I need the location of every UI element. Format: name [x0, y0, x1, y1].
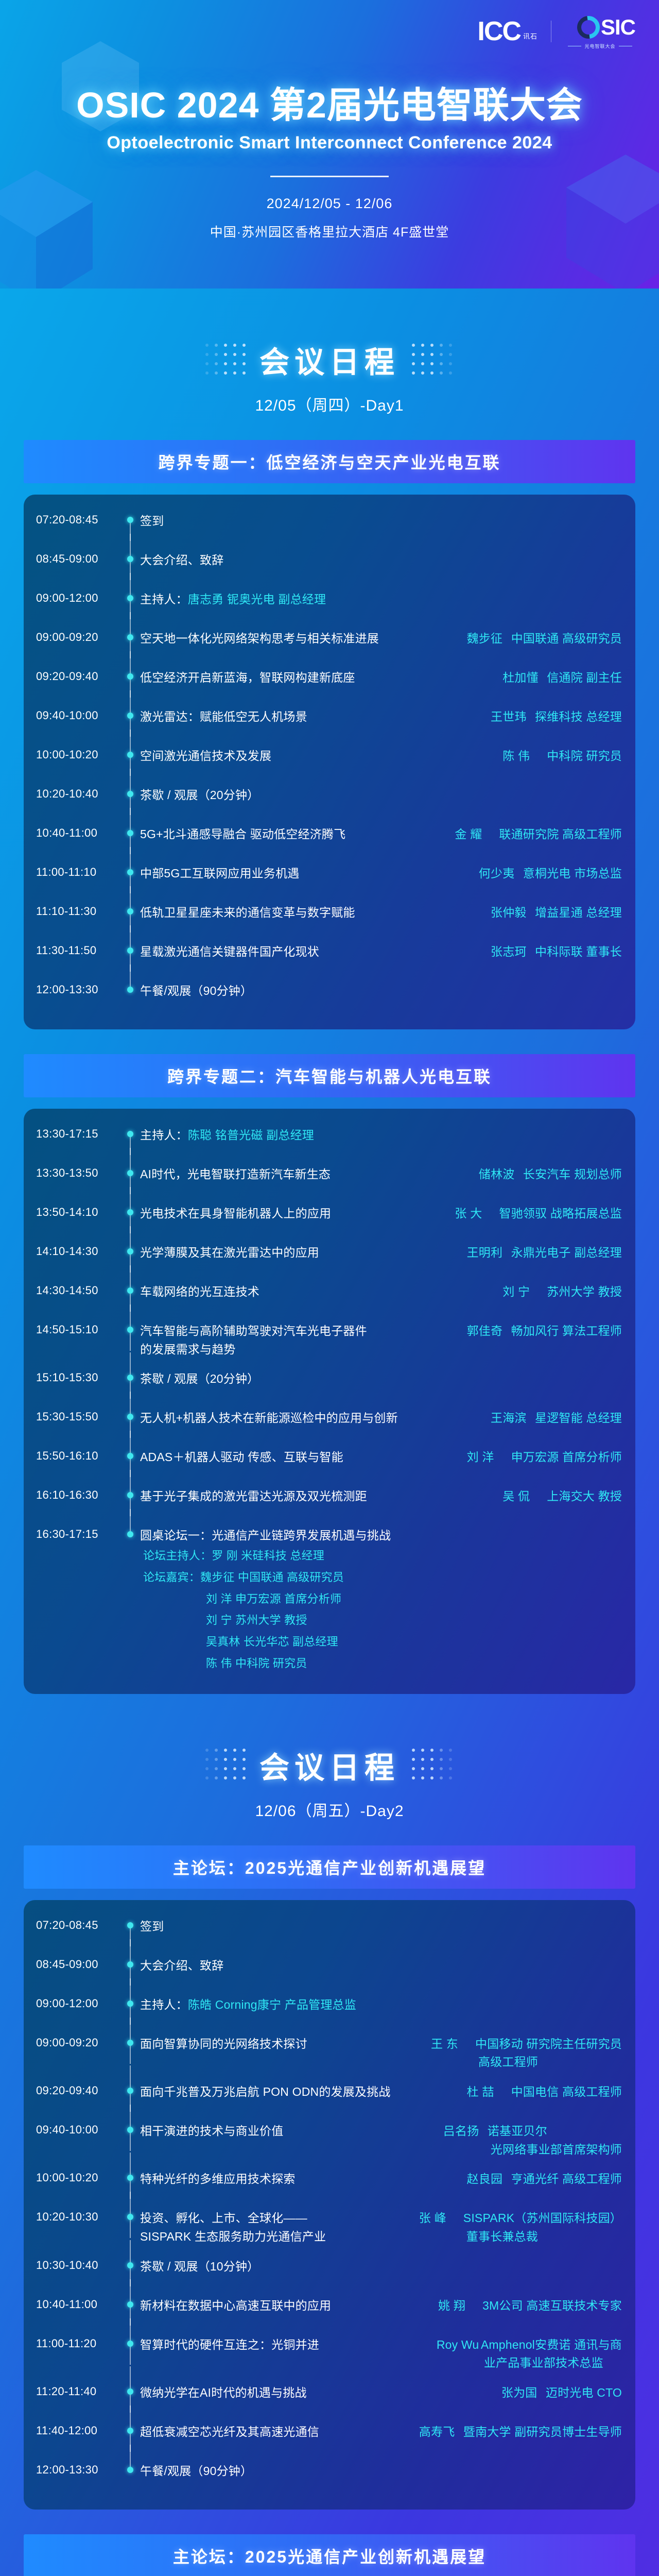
- agenda-time: 09:00-12:00: [36, 590, 123, 605]
- speaker-org: Amphenol安费诺 通讯与商: [481, 2338, 622, 2351]
- speaker-name: 杜加懂: [502, 669, 547, 687]
- agenda-row: 08:45-09:00大会介绍、致辞: [24, 1957, 635, 1985]
- speaker-name: 陈 伟: [502, 747, 547, 766]
- agenda-topic: 光电技术在具身智能机器人上的应用: [140, 1205, 455, 1223]
- conference-poster: ICC 讯石 SIC 光电智联大会 OSIC 2024 第2届光电智联大会 Op…: [0, 0, 659, 2576]
- agenda-break-label: 大会介绍、致辞: [140, 551, 622, 570]
- speaker-name: 杜 喆: [467, 2083, 511, 2102]
- session-host: 主持人：陈聪 铭普光磁 副总经理: [140, 1126, 622, 1145]
- hero-banner: ICC 讯石 SIC 光电智联大会 OSIC 2024 第2届光电智联大会 Op…: [0, 0, 659, 289]
- agenda-row: 11:30-11:50星载激光通信关键器件国产化现状张志珂中科际联 董事长: [24, 943, 635, 971]
- agenda-topic: 超低衰减空芯光纤及其高速光通信: [140, 2423, 419, 2442]
- agenda-row: 07:20-08:45签到: [24, 512, 635, 540]
- agenda-time: 08:45-09:00: [36, 551, 123, 566]
- agenda-row-body: 5G+北斗通感导融合 驱动低空经济腾飞金 耀联通研究院 高级工程师: [140, 825, 635, 844]
- agenda-row: 09:20-09:40面向千兆普及万兆启航 PON ODN的发展及挑战杜 喆中国…: [24, 2083, 635, 2111]
- dot-grid-left: [205, 1749, 247, 1781]
- agenda-speaker: 刘 洋申万宏源 首席分析师: [467, 1448, 622, 1467]
- agenda-speaker: 郭佳奇畅加风行 算法工程师: [467, 1322, 622, 1341]
- agenda-time: 10:00-10:20: [36, 747, 123, 761]
- timeline-dot-icon: [127, 2428, 133, 2434]
- speaker-name: 王 东: [431, 2035, 475, 2054]
- agenda-topic: 低空经济开启新蓝海，智联网构建新底座: [140, 669, 502, 687]
- panel-guest: 刘 洋 申万宏源 首席分析师: [140, 1588, 614, 1610]
- agenda-time: 11:10-11:30: [36, 904, 123, 918]
- panel-guest: 刘 宁 苏州大学 教授: [140, 1609, 614, 1631]
- timeline-dot-icon: [127, 1453, 133, 1459]
- agenda-row: 10:20-10:30投资、孵化、上市、全球化——SISPARK 生态服务助力光…: [24, 2209, 635, 2246]
- agenda-topic: 低轨卫星星座未来的通信变革与数字赋能: [140, 904, 491, 922]
- event-venue: 中国·苏州园区香格里拉大酒店 4F盛世堂: [0, 222, 659, 241]
- speaker-name: 刘 洋: [467, 1448, 511, 1467]
- speaker-org: 中国移动 研究院主任研究员: [475, 2037, 622, 2050]
- panel-guest: 陈 伟 中科院 研究员: [140, 1653, 614, 1674]
- timeline-dot-icon: [127, 1287, 133, 1294]
- agenda-time: 09:00-09:20: [36, 630, 123, 644]
- agenda-topic: 基于光子集成的激光雷达光源及双光梳测距: [140, 1487, 502, 1506]
- speaker-org: 星逻智能 总经理: [535, 1411, 622, 1425]
- agenda-row-body: 激光雷达：赋能低空无人机场景王世玮探维科技 总经理: [140, 708, 635, 726]
- session-title-bar: 主论坛：2025光通信产业创新机遇展望: [24, 2534, 635, 2576]
- agenda-time: 16:10-16:30: [36, 1487, 123, 1502]
- day-title-badge: 会议日程: [0, 1743, 659, 1787]
- agenda-row: 15:30-15:50无人机+机器人技术在新能源巡检中的应用与创新王海滨星逻智能…: [24, 1409, 635, 1437]
- speaker-org: 申万宏源 首席分析师: [511, 1450, 622, 1464]
- timeline-dot-icon: [127, 908, 133, 914]
- agenda-row: 09:00-12:00主持人：唐志勇 铌奥光电 副总经理: [24, 590, 635, 618]
- agenda-time: 13:30-13:50: [36, 1165, 123, 1180]
- agenda-row-body: 签到: [140, 1918, 635, 1936]
- speaker-org: 增益星通 总经理: [535, 906, 622, 919]
- timeline-dot-icon: [127, 2341, 133, 2347]
- agenda-time: 09:40-10:00: [36, 2122, 123, 2137]
- agenda-topic: 星载激光通信关键器件国产化现状: [140, 943, 491, 961]
- speaker-org: 中科院 研究员: [547, 749, 622, 762]
- timeline-dot-icon: [127, 2388, 133, 2395]
- agenda-time: 10:20-10:40: [36, 786, 123, 801]
- agenda-topic: AI时代，光电智联打造新汽车新生态: [140, 1165, 479, 1184]
- agenda-row: 09:00-12:00主持人：陈皓 Corning康宁 产品管理总监: [24, 1996, 635, 2024]
- agenda-time: 11:00-11:10: [36, 865, 123, 879]
- title-divider: [270, 176, 389, 177]
- agenda-container: 会议日程12/05（周四）-Day1跨界专题一：低空经济与空天产业光电互联07:…: [0, 289, 659, 2576]
- session-card: 07:20-08:45签到08:45-09:00大会介绍、致辞09:00-12:…: [24, 495, 635, 1029]
- agenda-speaker: 张 大智驰领驭 战略拓展总监: [455, 1205, 622, 1223]
- agenda-time: 09:40-10:00: [36, 708, 123, 722]
- speaker-name: 高寿飞: [419, 2423, 463, 2442]
- timeline-dot-icon: [127, 1248, 133, 1255]
- agenda-time: 11:00-11:20: [36, 2336, 123, 2350]
- speaker-name: 张 峰: [419, 2209, 463, 2228]
- agenda-time: 08:45-09:00: [36, 1957, 123, 1971]
- agenda-row-body: ADAS＋机器人驱动 传感、互联与智能刘 洋申万宏源 首席分析师: [140, 1448, 635, 1467]
- timeline-dot-icon: [127, 947, 133, 954]
- agenda-row-body: 面向智算协同的光网络技术探讨王 东中国移动 研究院主任研究员高级工程师: [140, 2035, 635, 2072]
- agenda-time: 11:40-12:00: [36, 2423, 123, 2437]
- agenda-speaker: 赵良园亨通光纤 高级工程师: [467, 2170, 622, 2189]
- agenda-row: 10:30-10:40茶歇 / 观展（10分钟）: [24, 2258, 635, 2285]
- timeline-dot-icon: [127, 517, 133, 523]
- agenda-row-body: 汽车智能与高阶辅助驾驶对汽车光电子器件的发展需求与趋势郭佳奇畅加风行 算法工程师: [140, 1322, 635, 1359]
- agenda-row-body: 大会介绍、致辞: [140, 551, 635, 570]
- speaker-name: 王明利: [467, 1244, 511, 1262]
- agenda-speaker: 张 峰SISPARK（苏州国际科技园）董事长兼总裁: [419, 2209, 622, 2246]
- speaker-org: 3M公司 高速互联技术专家: [482, 2299, 622, 2312]
- speaker-org: 中国联通 高级研究员: [511, 632, 622, 645]
- agenda-row: 11:40-12:00超低衰减空芯光纤及其高速光通信高寿飞暨南大学 副研究员博士…: [24, 2423, 635, 2451]
- agenda-time: 15:30-15:50: [36, 1409, 123, 1423]
- agenda-row-body: 光学薄膜及其在激光雷达中的应用王明利永鼎光电子 副总经理: [140, 1244, 635, 1262]
- speaker-org: 诺基亚贝尔: [488, 2124, 547, 2138]
- agenda-topic: 车载网络的光互连技术: [140, 1283, 502, 1301]
- agenda-row-body: 基于光子集成的激光雷达光源及双光梳测距吴 侃上海交大 教授: [140, 1487, 635, 1506]
- agenda-speaker: 王明利永鼎光电子 副总经理: [467, 1244, 622, 1262]
- timeline-dot-icon: [127, 2040, 133, 2046]
- agenda-row-body: 无人机+机器人技术在新能源巡检中的应用与创新王海滨星逻智能 总经理: [140, 1409, 635, 1428]
- agenda-row: 10:00-10:20空间激光通信技术及发展陈 伟中科院 研究员: [24, 747, 635, 775]
- timeline-dot-icon: [127, 1131, 133, 1137]
- agenda-speaker: 杜 喆中国电信 高级工程师: [467, 2083, 622, 2102]
- agenda-break-label: 茶歇 / 观展（20分钟）: [140, 1370, 622, 1388]
- timeline-dot-icon: [127, 1327, 133, 1333]
- speaker-org: 迈时光电 CTO: [546, 2386, 622, 2399]
- agenda-topic: 中部5G工互联网应用业务机遇: [140, 865, 479, 883]
- agenda-topic: 面向智算协同的光网络技术探讨: [140, 2035, 431, 2054]
- session-host: 主持人：陈皓 Corning康宁 产品管理总监: [140, 1996, 622, 2014]
- speaker-org: 暨南大学 副研究员博士生导师: [463, 2425, 622, 2438]
- agenda-time: 10:20-10:30: [36, 2209, 123, 2224]
- speaker-name: 张 大: [455, 1205, 499, 1223]
- day-title: 会议日程: [256, 338, 403, 381]
- speaker-org: 永鼎光电子 副总经理: [511, 1246, 622, 1259]
- speaker-org: 探维科技 总经理: [535, 710, 622, 723]
- agenda-time: 12:00-13:30: [36, 2462, 123, 2477]
- agenda-topic: 5G+北斗通感导融合 驱动低空经济腾飞: [140, 825, 455, 844]
- agenda-row: 12:00-13:30午餐/观展（90分钟）: [24, 2462, 635, 2490]
- agenda-row-body: 午餐/观展（90分钟）: [140, 2462, 635, 2481]
- agenda-time: 16:30-17:15: [36, 1527, 123, 1541]
- agenda-row-body: 茶歇 / 观展（20分钟）: [140, 1370, 635, 1388]
- agenda-topic: 新材料在数据中心高速互联中的应用: [140, 2297, 438, 2315]
- agenda-topic: 无人机+机器人技术在新能源巡检中的应用与创新: [140, 1409, 491, 1428]
- event-date: 2024/12/05 - 12/06: [0, 196, 659, 212]
- agenda-row-body: 中部5G工互联网应用业务机遇何少夷意桐光电 市场总监: [140, 865, 635, 883]
- agenda-speaker: 张为国迈时光电 CTO: [501, 2384, 622, 2402]
- agenda-topic: 空间激光通信技术及发展: [140, 747, 502, 766]
- agenda-row-body: 空间激光通信技术及发展陈 伟中科院 研究员: [140, 747, 635, 766]
- agenda-break-label: 午餐/观展（90分钟）: [140, 982, 622, 1001]
- agenda-row: 10:00-10:20特种光纤的多维应用技术探索赵良园亨通光纤 高级工程师: [24, 2170, 635, 2198]
- agenda-row: 13:50-14:10光电技术在具身智能机器人上的应用张 大智驰领驭 战略拓展总…: [24, 1205, 635, 1232]
- session-title-bar: 主论坛：2025光通信产业创新机遇展望: [24, 1845, 635, 1889]
- agenda-time: 14:30-14:50: [36, 1283, 123, 1297]
- agenda-row: 15:10-15:30茶歇 / 观展（20分钟）: [24, 1370, 635, 1398]
- speaker-name: 吴 侃: [502, 1487, 547, 1506]
- timeline-dot-icon: [127, 2088, 133, 2094]
- session-card: 07:20-08:45签到08:45-09:00大会介绍、致辞09:00-12:…: [24, 1900, 635, 2510]
- agenda-topic: 特种光纤的多维应用技术探索: [140, 2170, 467, 2189]
- agenda-speaker: 吕名扬诺基亚贝尔光网络事业部首席架构师: [443, 2122, 622, 2159]
- agenda-row-body: 圆桌论坛一：光通信产业链跨界发展机遇与挑战论坛主持人：罗 刚 米硅科技 总经理论…: [140, 1527, 635, 1674]
- agenda-speaker: 储林波长安汽车 规划总师: [479, 1165, 622, 1184]
- speaker-name: 姚 翔: [438, 2297, 482, 2315]
- timeline-dot-icon: [127, 2467, 133, 2473]
- speaker-org: 中国电信 高级工程师: [511, 2085, 622, 2098]
- agenda-time: 10:40-11:00: [36, 2297, 123, 2311]
- day-subtitle: 12/06（周五）-Day2: [0, 1798, 659, 1821]
- agenda-time: 09:00-12:00: [36, 1996, 123, 2010]
- agenda-row: 14:30-14:50车载网络的光互连技术刘 宁苏州大学 教授: [24, 1283, 635, 1311]
- timeline-dot-icon: [127, 673, 133, 680]
- timeline-dot-icon: [127, 1170, 133, 1176]
- agenda-speaker: 金 耀联通研究院 高级工程师: [455, 825, 622, 844]
- page-title: OSIC 2024 第2届光电智联大会: [0, 87, 659, 125]
- agenda-break-label: 签到: [140, 512, 622, 531]
- agenda-row: 14:10-14:30光学薄膜及其在激光雷达中的应用王明利永鼎光电子 副总经理: [24, 1244, 635, 1272]
- agenda-time: 07:20-08:45: [36, 1918, 123, 1932]
- agenda-row: 11:20-11:40微纳光学在AI时代的机遇与挑战张为国迈时光电 CTO: [24, 2384, 635, 2412]
- agenda-time: 07:20-08:45: [36, 512, 123, 527]
- agenda-speaker: 高寿飞暨南大学 副研究员博士生导师: [419, 2423, 622, 2442]
- speaker-org: 亨通光纤 高级工程师: [511, 2172, 622, 2185]
- agenda-break-label: 茶歇 / 观展（10分钟）: [140, 2258, 622, 2276]
- agenda-row-body: 面向千兆普及万兆启航 PON ODN的发展及挑战杜 喆中国电信 高级工程师: [140, 2083, 635, 2102]
- timeline-dot-icon: [127, 869, 133, 875]
- agenda-time: 09:20-09:40: [36, 2083, 123, 2097]
- agenda-row-body: 低空经济开启新蓝海，智联网构建新底座杜加懂信通院 副主任: [140, 669, 635, 687]
- agenda-topic: 光学薄膜及其在激光雷达中的应用: [140, 1244, 467, 1262]
- agenda-time: 15:50-16:10: [36, 1448, 123, 1463]
- speaker-name: 何少夷: [479, 865, 523, 883]
- agenda-time: 11:30-11:50: [36, 943, 123, 957]
- timeline-dot-icon: [127, 987, 133, 993]
- agenda-speaker: 杜加懂信通院 副主任: [502, 669, 622, 687]
- agenda-time: 13:30-17:15: [36, 1126, 123, 1141]
- speaker-org: SISPARK（苏州国际科技园）: [463, 2211, 622, 2225]
- timeline-dot-icon: [127, 2175, 133, 2181]
- agenda-row-body: 茶歇 / 观展（20分钟）: [140, 786, 635, 805]
- speaker-org: 中科际联 董事长: [535, 945, 622, 958]
- timeline-dot-icon: [127, 1961, 133, 1968]
- timeline-dot-icon: [127, 634, 133, 640]
- agenda-row: 09:00-09:20面向智算协同的光网络技术探讨王 东中国移动 研究院主任研究…: [24, 2035, 635, 2072]
- agenda-break-label: 午餐/观展（90分钟）: [140, 2462, 622, 2481]
- agenda-speaker: 陈 伟中科院 研究员: [502, 747, 622, 766]
- agenda-row-body: 光电技术在具身智能机器人上的应用张 大智驰领驭 战略拓展总监: [140, 1205, 635, 1223]
- speaker-name: 张为国: [501, 2384, 546, 2402]
- session-title-bar: 跨界专题一：低空经济与空天产业光电互联: [24, 440, 635, 483]
- agenda-time: 13:50-14:10: [36, 1205, 123, 1219]
- speaker-org: 苏州大学 教授: [547, 1285, 622, 1298]
- dot-grid-left: [205, 344, 247, 376]
- agenda-row-body: 主持人：陈皓 Corning康宁 产品管理总监: [140, 1996, 635, 2014]
- speaker-name: 金 耀: [455, 825, 499, 844]
- speaker-name: 王世玮: [491, 708, 535, 726]
- panel-people: 论坛主持人：罗 刚 米硅科技 总经理论坛嘉宾：魏步征 中国联通 高级研究员刘 洋…: [140, 1545, 614, 1674]
- agenda-topic: 激光雷达：赋能低空无人机场景: [140, 708, 491, 726]
- timeline-dot-icon: [127, 2262, 133, 2268]
- agenda-row-body: 大会介绍、致辞: [140, 1957, 635, 1975]
- timeline-dot-icon: [127, 1531, 133, 1537]
- agenda-row-body: 主持人：陈聪 铭普光磁 副总经理: [140, 1126, 635, 1145]
- timeline-dot-icon: [127, 1209, 133, 1215]
- agenda-speaker: 王 东中国移动 研究院主任研究员高级工程师: [431, 2035, 622, 2072]
- agenda-row-body: 新材料在数据中心高速互联中的应用姚 翔3M公司 高速互联技术专家: [140, 2297, 635, 2315]
- speaker-org: 上海交大 教授: [547, 1489, 622, 1503]
- agenda-row-body: 智算时代的硬件互连之：光铜并进Roy WuAmphenol安费诺 通讯与商业产品…: [140, 2336, 635, 2372]
- agenda-speaker: 张仲毅增益星通 总经理: [491, 904, 622, 922]
- timeline-dot-icon: [127, 713, 133, 719]
- speaker-name: 王海滨: [491, 1409, 535, 1428]
- agenda-row-body: 茶歇 / 观展（10分钟）: [140, 2258, 635, 2276]
- speaker-name: 储林波: [479, 1165, 523, 1184]
- agenda-time: 11:20-11:40: [36, 2384, 123, 2398]
- agenda-row: 09:40-10:00相干演进的技术与商业价值吕名扬诺基亚贝尔光网络事业部首席架…: [24, 2122, 635, 2159]
- timeline-dot-icon: [127, 1375, 133, 1381]
- agenda-speaker: Roy WuAmphenol安费诺 通讯与商业产品事业部技术总监: [437, 2336, 622, 2372]
- agenda-row: 10:40-11:005G+北斗通感导融合 驱动低空经济腾飞金 耀联通研究院 高…: [24, 825, 635, 853]
- agenda-row-body: 超低衰减空芯光纤及其高速光通信高寿飞暨南大学 副研究员博士生导师: [140, 2423, 635, 2442]
- speaker-org: 畅加风行 算法工程师: [511, 1324, 622, 1337]
- agenda-row: 09:40-10:00激光雷达：赋能低空无人机场景王世玮探维科技 总经理: [24, 708, 635, 736]
- agenda-row-body: 特种光纤的多维应用技术探索赵良园亨通光纤 高级工程师: [140, 2170, 635, 2189]
- session-title-bar: 跨界专题二：汽车智能与机器人光电互联: [24, 1054, 635, 1097]
- speaker-name: 张仲毅: [491, 904, 535, 922]
- timeline-dot-icon: [127, 2127, 133, 2133]
- agenda-row: 11:00-11:10中部5G工互联网应用业务机遇何少夷意桐光电 市场总监: [24, 865, 635, 892]
- agenda-row-body: 星载激光通信关键器件国产化现状张志珂中科际联 董事长: [140, 943, 635, 961]
- agenda-break-label: 茶歇 / 观展（20分钟）: [140, 786, 622, 805]
- timeline-dot-icon: [127, 1492, 133, 1498]
- timeline-dot-icon: [127, 1922, 133, 1928]
- agenda-topic: 智算时代的硬件互连之：光铜并进: [140, 2336, 437, 2354]
- agenda-row-body: AI时代，光电智联打造新汽车新生态储林波长安汽车 规划总师: [140, 1165, 635, 1184]
- agenda-time: 15:10-15:30: [36, 1370, 123, 1384]
- agenda-row-body: 签到: [140, 512, 635, 531]
- agenda-topic: 面向千兆普及万兆启航 PON ODN的发展及挑战: [140, 2083, 467, 2102]
- agenda-topic: 投资、孵化、上市、全球化——SISPARK 生态服务助力光通信产业: [140, 2209, 419, 2246]
- agenda-row: 09:00-09:20空天地一体化光网络架构思考与相关标准进展魏步征中国联通 高…: [24, 630, 635, 657]
- agenda-row: 15:50-16:10ADAS＋机器人驱动 传感、互联与智能刘 洋申万宏源 首席…: [24, 1448, 635, 1476]
- agenda-speaker: 王世玮探维科技 总经理: [491, 708, 622, 726]
- agenda-speaker: 姚 翔3M公司 高速互联技术专家: [438, 2297, 622, 2315]
- agenda-row: 14:50-15:10汽车智能与高阶辅助驾驶对汽车光电子器件的发展需求与趋势郭佳…: [24, 1322, 635, 1359]
- agenda-row-body: 相干演进的技术与商业价值吕名扬诺基亚贝尔光网络事业部首席架构师: [140, 2122, 635, 2159]
- panel-guest: 吴真林 长光华芯 副总经理: [140, 1631, 614, 1653]
- agenda-row-body: 低轨卫星星座未来的通信变革与数字赋能张仲毅增益星通 总经理: [140, 904, 635, 922]
- agenda-speaker: 王海滨星逻智能 总经理: [491, 1409, 622, 1428]
- agenda-row: 07:20-08:45签到: [24, 1918, 635, 1945]
- agenda-row: 11:00-11:20智算时代的硬件互连之：光铜并进Roy WuAmphenol…: [24, 2336, 635, 2372]
- speaker-name: 魏步征: [467, 630, 511, 648]
- agenda-speaker: 刘 宁苏州大学 教授: [502, 1283, 622, 1301]
- speaker-org: 意桐光电 市场总监: [523, 867, 622, 880]
- agenda-row: 16:10-16:30基于光子集成的激光雷达光源及双光梳测距吴 侃上海交大 教授: [24, 1487, 635, 1515]
- timeline-dot-icon: [127, 791, 133, 797]
- agenda-topic: 空天地一体化光网络架构思考与相关标准进展: [140, 630, 467, 648]
- agenda-row-body: 微纳光学在AI时代的机遇与挑战张为国迈时光电 CTO: [140, 2384, 635, 2402]
- dot-grid-right: [412, 1749, 454, 1781]
- speaker-name: 赵良园: [467, 2170, 511, 2189]
- agenda-speaker: 张志珂中科际联 董事长: [491, 943, 622, 961]
- agenda-row: 10:20-10:40茶歇 / 观展（20分钟）: [24, 786, 635, 814]
- agenda-row-body: 投资、孵化、上市、全球化——SISPARK 生态服务助力光通信产业张 峰SISP…: [140, 2209, 635, 2246]
- agenda-topic: 汽车智能与高阶辅助驾驶对汽车光电子器件的发展需求与趋势: [140, 1322, 467, 1359]
- speaker-name: 吕名扬: [443, 2122, 488, 2141]
- day-title-badge: 会议日程: [0, 338, 659, 381]
- speaker-org: 联通研究院 高级工程师: [499, 827, 622, 841]
- timeline-dot-icon: [127, 2001, 133, 2007]
- speaker-name: 刘 宁: [502, 1283, 547, 1301]
- timeline-dot-icon: [127, 1414, 133, 1420]
- agenda-row-body: 空天地一体化光网络架构思考与相关标准进展魏步征中国联通 高级研究员: [140, 630, 635, 648]
- timeline-dot-icon: [127, 2301, 133, 2308]
- speaker-name: 郭佳奇: [467, 1322, 511, 1341]
- timeline-dot-icon: [127, 556, 133, 562]
- agenda-row-body: 午餐/观展（90分钟）: [140, 982, 635, 1001]
- dot-grid-right: [412, 344, 454, 376]
- timeline-dot-icon: [127, 595, 133, 601]
- agenda-row-body: 车载网络的光互连技术刘 宁苏州大学 教授: [140, 1283, 635, 1301]
- agenda-speaker: 何少夷意桐光电 市场总监: [479, 865, 622, 883]
- agenda-row: 12:00-13:30午餐/观展（90分钟）: [24, 982, 635, 1010]
- panel-moderator: 论坛主持人：罗 刚 米硅科技 总经理: [140, 1545, 614, 1567]
- speaker-org: 长安汽车 规划总师: [523, 1167, 622, 1181]
- agenda-time: 12:00-13:30: [36, 982, 123, 996]
- timeline-dot-icon: [127, 2214, 133, 2220]
- agenda-topic: 微纳光学在AI时代的机遇与挑战: [140, 2384, 501, 2402]
- agenda-time: 14:50-15:10: [36, 1322, 123, 1336]
- page-subtitle: Optoelectronic Smart Interconnect Confer…: [0, 133, 659, 153]
- agenda-topic: 相干演进的技术与商业价值: [140, 2122, 443, 2141]
- agenda-row: 10:40-11:00新材料在数据中心高速互联中的应用姚 翔3M公司 高速互联技…: [24, 2297, 635, 2325]
- speaker-name: 张志珂: [491, 943, 535, 961]
- day-header: 会议日程12/05（周四）-Day1: [0, 289, 659, 415]
- agenda-row: 11:10-11:30低轨卫星星座未来的通信变革与数字赋能张仲毅增益星通 总经理: [24, 904, 635, 931]
- day-subtitle: 12/05（周四）-Day1: [0, 393, 659, 415]
- agenda-time: 10:00-10:20: [36, 2170, 123, 2184]
- agenda-row: 13:30-13:50AI时代，光电智联打造新汽车新生态储林波长安汽车 规划总师: [24, 1165, 635, 1193]
- agenda-row: 09:20-09:40低空经济开启新蓝海，智联网构建新底座杜加懂信通院 副主任: [24, 669, 635, 697]
- agenda-time: 09:20-09:40: [36, 669, 123, 683]
- agenda-break-label: 大会介绍、致辞: [140, 1957, 622, 1975]
- speaker-org: 信通院 副主任: [547, 671, 622, 684]
- agenda-time: 10:30-10:40: [36, 2258, 123, 2272]
- timeline-dot-icon: [127, 830, 133, 836]
- agenda-row: 08:45-09:00大会介绍、致辞: [24, 551, 635, 579]
- timeline-dot-icon: [127, 752, 133, 758]
- panel-block: 圆桌论坛一：光通信产业链跨界发展机遇与挑战论坛主持人：罗 刚 米硅科技 总经理论…: [140, 1527, 622, 1674]
- panel-guest: 论坛嘉宾：魏步征 中国联通 高级研究员: [140, 1567, 614, 1588]
- session-card: 13:30-17:15主持人：陈聪 铭普光磁 副总经理13:30-13:50AI…: [24, 1109, 635, 1694]
- agenda-row: 16:30-17:15圆桌论坛一：光通信产业链跨界发展机遇与挑战论坛主持人：罗 …: [24, 1527, 635, 1674]
- session-host: 主持人：唐志勇 铌奥光电 副总经理: [140, 590, 622, 609]
- agenda-row: 13:30-17:15主持人：陈聪 铭普光磁 副总经理: [24, 1126, 635, 1154]
- agenda-speaker: 吴 侃上海交大 教授: [502, 1487, 622, 1506]
- agenda-time: 14:10-14:30: [36, 1244, 123, 1258]
- day-title: 会议日程: [256, 1743, 403, 1787]
- day-header: 会议日程12/06（周五）-Day2: [0, 1694, 659, 1821]
- agenda-speaker: 魏步征中国联通 高级研究员: [467, 630, 622, 648]
- speaker-org: 智驰领驭 战略拓展总监: [499, 1207, 622, 1220]
- agenda-row-body: 主持人：唐志勇 铌奥光电 副总经理: [140, 590, 635, 609]
- agenda-break-label: 签到: [140, 1918, 622, 1936]
- agenda-time: 10:40-11:00: [36, 825, 123, 840]
- speaker-name: Roy Wu: [437, 2336, 481, 2354]
- agenda-topic: ADAS＋机器人驱动 传感、互联与智能: [140, 1448, 467, 1467]
- agenda-time: 09:00-09:20: [36, 2035, 123, 2049]
